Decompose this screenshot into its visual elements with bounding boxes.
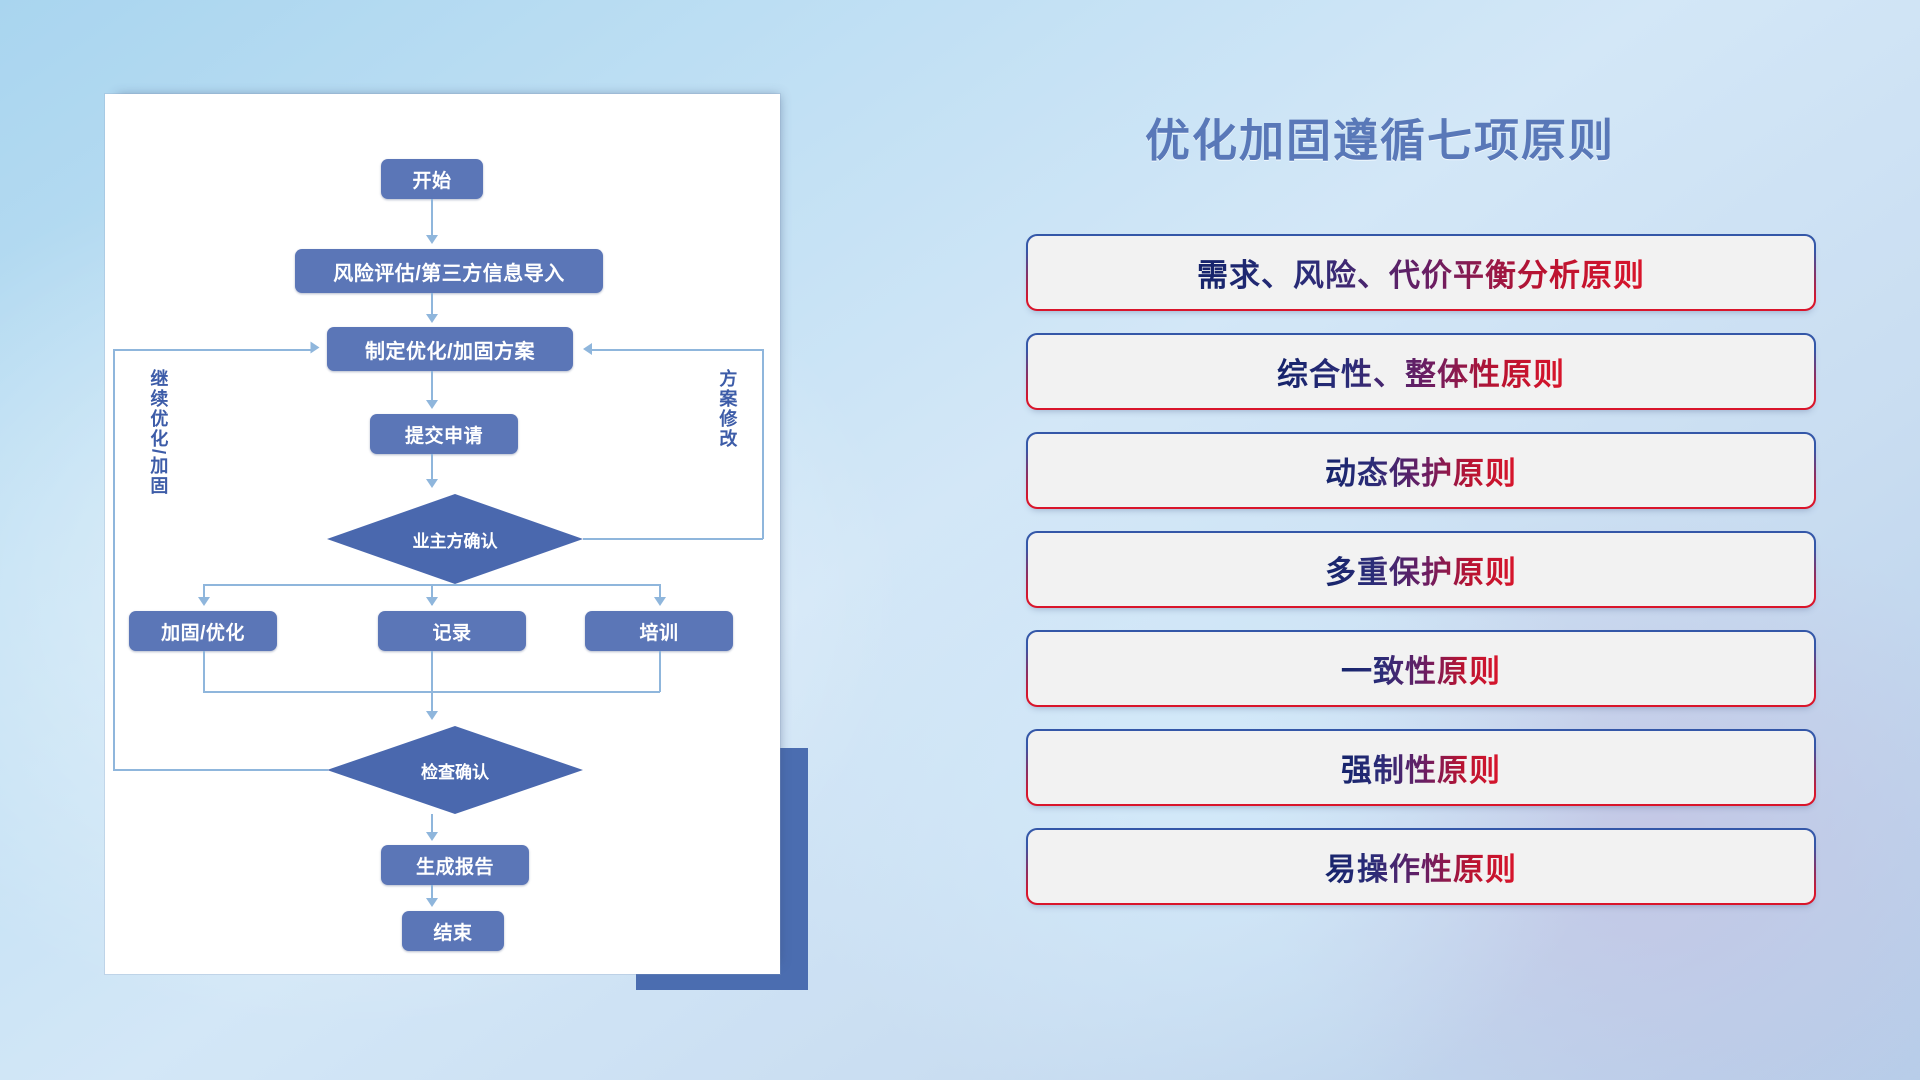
connector-risk-to-plan xyxy=(431,293,433,315)
arrow-bus-to-reinforce xyxy=(198,597,210,606)
principle-card-7[interactable]: 易操作性原则 xyxy=(1026,828,1816,905)
principle-card-1-label: 需求、风险、代价平衡分析原则 xyxy=(1197,250,1645,295)
connector-left-loop-bottom xyxy=(113,769,328,771)
connector-right-loop-bottom xyxy=(583,538,763,540)
flow-node-generate-report-label: 生成报告 xyxy=(416,852,494,879)
arrow-risk-to-plan xyxy=(426,314,438,323)
connector-branch-bus xyxy=(203,584,661,586)
connector-bus-to-reinforce xyxy=(203,584,205,598)
connector-bus-to-training xyxy=(659,584,661,598)
flow-edge-label-continue-optimize: 继续优化/加固 xyxy=(149,369,167,534)
principles-list: 需求、风险、代价平衡分析原则 综合性、整体性原则 动态保护原则 多重保护原则 一… xyxy=(1026,234,1816,927)
connector-right-loop-vertical xyxy=(762,349,764,539)
principle-card-6[interactable]: 强制性原则 xyxy=(1026,729,1816,806)
arrow-bus-to-training xyxy=(654,597,666,606)
connector-training-down xyxy=(659,651,661,692)
flowchart-panel: 开始 风险评估/第三方信息导入 制定优化/加固方案 提交申请 业主方确认 加固/… xyxy=(0,0,840,1080)
principle-card-3[interactable]: 动态保护原则 xyxy=(1026,432,1816,509)
flow-node-training-label: 培训 xyxy=(639,618,678,645)
flow-node-risk-assessment-label: 风险评估/第三方信息导入 xyxy=(333,257,565,286)
flow-node-check-confirm[interactable]: 检查确认 xyxy=(327,726,583,814)
flow-node-end[interactable]: 结束 xyxy=(402,911,504,951)
flow-node-record-label: 记录 xyxy=(432,618,471,645)
arrow-start-to-risk xyxy=(426,235,438,244)
connector-reinforce-down xyxy=(203,651,205,692)
connector-start-to-risk xyxy=(431,199,433,237)
arrow-check-to-report xyxy=(426,832,438,841)
connector-submit-to-owner xyxy=(431,454,433,480)
flow-node-owner-confirm[interactable]: 业主方确认 xyxy=(327,494,583,584)
connector-plan-to-submit xyxy=(431,371,433,401)
flow-node-risk-assessment[interactable]: 风险评估/第三方信息导入 xyxy=(295,249,603,293)
connector-record-down xyxy=(431,651,433,712)
flow-node-reinforce[interactable]: 加固/优化 xyxy=(129,611,277,651)
flow-edge-label-plan-revision: 方案修改 xyxy=(718,369,736,489)
flow-node-reinforce-label: 加固/优化 xyxy=(161,618,245,645)
principle-card-2[interactable]: 综合性、整体性原则 xyxy=(1026,333,1816,410)
principle-card-7-label: 易操作性原则 xyxy=(1325,844,1517,889)
connector-left-loop-vertical xyxy=(113,349,115,770)
flow-node-submit-application[interactable]: 提交申请 xyxy=(370,414,518,454)
flow-node-make-plan-label: 制定优化/加固方案 xyxy=(365,335,535,364)
principle-card-6-label: 强制性原则 xyxy=(1341,745,1501,790)
connector-check-to-report xyxy=(431,814,433,834)
connector-merge-bus xyxy=(203,691,660,693)
arrow-right-loop-into-plan xyxy=(583,343,592,355)
flow-node-start[interactable]: 开始 xyxy=(381,159,483,199)
principle-card-4-label: 多重保护原则 xyxy=(1325,547,1517,592)
flow-node-start-label: 开始 xyxy=(412,166,451,193)
principle-card-5[interactable]: 一致性原则 xyxy=(1026,630,1816,707)
arrow-plan-to-submit xyxy=(426,400,438,409)
flow-node-record[interactable]: 记录 xyxy=(378,611,526,651)
arrow-bus-to-record xyxy=(426,597,438,606)
arrow-report-to-end xyxy=(426,898,438,907)
connector-right-loop-top xyxy=(592,349,763,351)
page-title: 优化加固遵循七项原则 xyxy=(840,104,1920,169)
flowchart-card: 开始 风险评估/第三方信息导入 制定优化/加固方案 提交申请 业主方确认 加固/… xyxy=(105,94,780,974)
flowchart-canvas: 开始 风险评估/第三方信息导入 制定优化/加固方案 提交申请 业主方确认 加固/… xyxy=(105,94,780,974)
arrow-left-loop-into-plan xyxy=(311,342,320,354)
flow-node-owner-confirm-label: 业主方确认 xyxy=(413,527,498,552)
principle-card-5-label: 一致性原则 xyxy=(1341,646,1501,691)
principles-panel: 优化加固遵循七项原则 需求、风险、代价平衡分析原则 综合性、整体性原则 动态保护… xyxy=(840,0,1920,1080)
principle-card-2-label: 综合性、整体性原则 xyxy=(1277,349,1565,394)
principle-card-1[interactable]: 需求、风险、代价平衡分析原则 xyxy=(1026,234,1816,311)
flow-node-submit-application-label: 提交申请 xyxy=(405,421,483,448)
flow-node-make-plan[interactable]: 制定优化/加固方案 xyxy=(327,327,573,371)
principle-card-4[interactable]: 多重保护原则 xyxy=(1026,531,1816,608)
arrow-submit-to-owner xyxy=(426,479,438,488)
flow-node-check-confirm-label: 检查确认 xyxy=(421,758,489,783)
connector-left-loop-top xyxy=(113,349,313,351)
flow-node-end-label: 结束 xyxy=(433,918,472,945)
arrow-merge-to-check xyxy=(426,711,438,720)
principle-card-3-label: 动态保护原则 xyxy=(1325,448,1517,493)
flow-node-generate-report[interactable]: 生成报告 xyxy=(381,845,529,885)
flow-node-training[interactable]: 培训 xyxy=(585,611,733,651)
connector-report-to-end xyxy=(431,885,433,899)
